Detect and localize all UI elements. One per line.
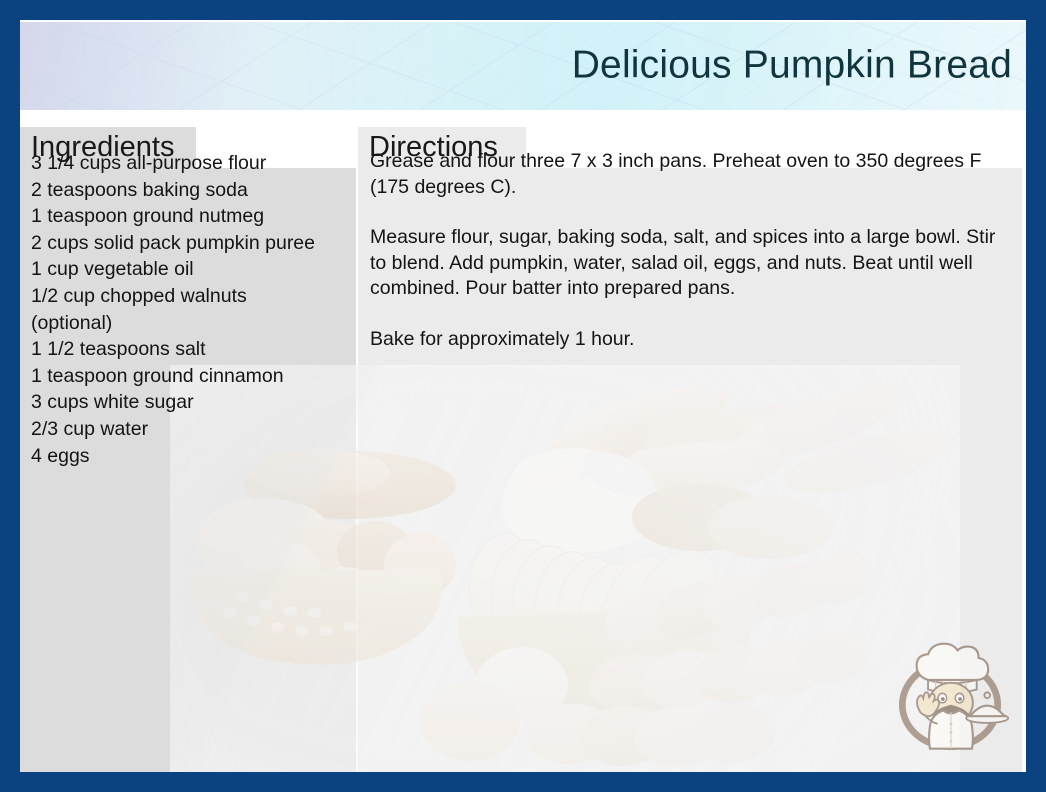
ingredient-item: 2 cups solid pack pumpkin puree [31, 230, 350, 257]
title-banner: Delicious Pumpkin Bread [20, 22, 1026, 110]
ingredient-item: 3 cups white sugar [31, 389, 350, 416]
chef-logo-icon [888, 638, 1012, 762]
direction-paragraph: Grease and flour three 7 x 3 inch pans. … [370, 149, 1010, 200]
ingredients-panel: Ingredients 3 1/4 cups all-purpose flour… [20, 127, 356, 772]
ingredient-item: 2 teaspoons baking soda [31, 177, 350, 204]
ingredient-item: (optional) [31, 310, 350, 337]
ingredient-item: 4 eggs [31, 443, 350, 470]
ingredient-item: 1 1/2 teaspoons salt [31, 336, 350, 363]
ingredient-item: 1 teaspoon ground nutmeg [31, 203, 350, 230]
recipe-slide: Delicious Pumpkin Bread Ingredients 3 1/… [0, 0, 1046, 792]
slide-title: Delicious Pumpkin Bread [572, 46, 1012, 85]
direction-paragraph: Measure flour, sugar, baking soda, salt,… [370, 225, 1010, 302]
directions-text: Grease and flour three 7 x 3 inch pans. … [358, 127, 1022, 352]
ingredient-item: 1/2 cup chopped walnuts [31, 283, 350, 310]
ingredient-item: 2/3 cup water [31, 416, 350, 443]
direction-paragraph: Bake for approximately 1 hour. [370, 327, 1010, 353]
slide-content-area: Delicious Pumpkin Bread Ingredients 3 1/… [20, 20, 1026, 772]
ingredients-list: 3 1/4 cups all-purpose flour 2 teaspoons… [20, 127, 356, 469]
ingredient-item: 1 cup vegetable oil [31, 256, 350, 283]
ingredient-item: 1 teaspoon ground cinnamon [31, 363, 350, 390]
ingredient-item: 3 1/4 cups all-purpose flour [31, 150, 350, 177]
